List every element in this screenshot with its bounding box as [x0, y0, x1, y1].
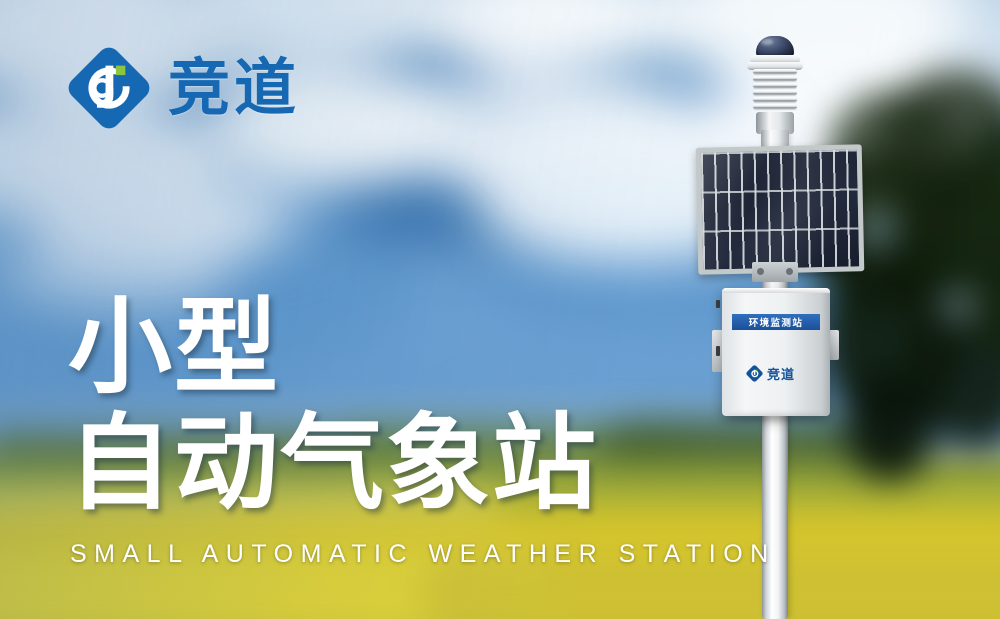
- control-box-shadow: [726, 414, 826, 421]
- jingdao-diamond-logo-icon: [66, 45, 152, 131]
- control-box-banner: 环境监测站: [732, 314, 820, 330]
- solar-panel-bracket: [752, 262, 798, 282]
- control-box-brand: 竞道: [746, 364, 810, 383]
- brand-logo: 竞道: [66, 45, 300, 131]
- control-box: 环境监测站 竞道: [722, 288, 830, 416]
- product-banner: 环境监测站 竞道: [0, 0, 1000, 619]
- control-box-port: [716, 300, 720, 308]
- ultrasonic-weather-sensor-head: [744, 36, 806, 132]
- control-box-port: [716, 346, 720, 356]
- subtitle: SMALL AUTOMATIC WEATHER STATION: [70, 540, 776, 569]
- solar-panel: [696, 144, 865, 274]
- jingdao-diamond-logo-icon: [746, 365, 763, 382]
- control-box-banner-label: 环境监测站: [749, 315, 804, 329]
- control-box-brand-label: 竞道: [767, 364, 795, 383]
- solar-panel-glare: [701, 149, 859, 269]
- louvered-radiation-shield: [753, 69, 797, 113]
- headline-line-2: 自动气象站: [68, 408, 598, 518]
- headline-line-1: 小型: [68, 292, 598, 402]
- headline-block: 小型 自动气象站: [68, 292, 598, 518]
- brand-name: 竞道: [168, 57, 300, 119]
- control-box-top-edge: [722, 288, 830, 293]
